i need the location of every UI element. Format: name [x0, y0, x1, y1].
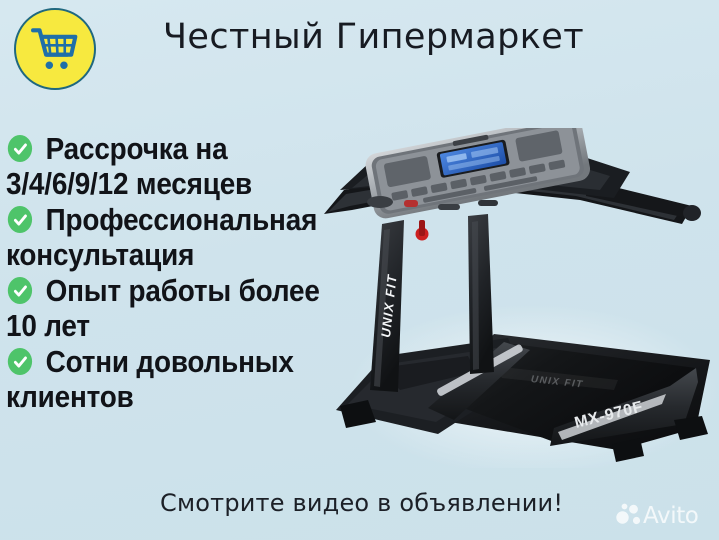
footer-caption: Смотрите видео в объявлении! — [160, 489, 563, 517]
list-item-label: Сотни довольных клиентов — [6, 344, 294, 414]
shopping-cart-icon — [14, 8, 96, 90]
check-circle-icon — [8, 348, 32, 375]
check-circle-icon — [8, 135, 32, 162]
treadmill-photo: UNIX FIT MX-970F UNIX FIT — [318, 128, 719, 468]
list-item-label: Опыт работы более 10 лет — [6, 273, 320, 343]
page-title: Честный Гипермаркет — [163, 17, 584, 57]
promo-poster: Честный Гипермаркет — [0, 0, 719, 540]
list-item-label: Рассрочка на 3/4/6/9/12 месяцев — [6, 131, 252, 201]
list-item-label: Профессиональная консультация — [6, 202, 317, 272]
avito-wordmark: Avito — [643, 503, 698, 528]
list-item: Сотни довольных клиентов — [6, 344, 323, 414]
list-item: Рассрочка на 3/4/6/9/12 месяцев — [6, 131, 323, 201]
list-item: Профессиональная консультация — [6, 202, 323, 272]
check-circle-icon — [8, 206, 32, 233]
feature-list: Рассрочка на 3/4/6/9/12 месяцев Професси… — [6, 131, 358, 415]
list-item: Опыт работы более 10 лет — [6, 273, 323, 343]
poster-header: Честный Гипермаркет — [0, 0, 719, 100]
avito-watermark: Avito — [615, 500, 707, 528]
check-circle-icon — [8, 277, 32, 304]
